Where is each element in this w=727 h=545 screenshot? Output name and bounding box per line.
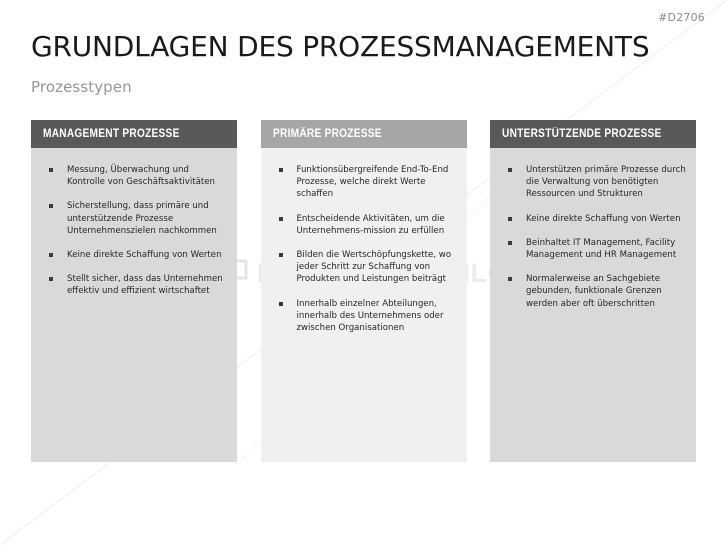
list-item-text: Bilden die Wertschöpfungskette, wo jeder…: [297, 250, 452, 284]
square-bullet-icon: [49, 168, 53, 172]
column-primaere-prozesse: Primäre Prozesse Funktionsübergreifende …: [261, 120, 467, 462]
square-bullet-icon: [508, 241, 512, 245]
column-unterstuetzende-prozesse: Unterstützende Prozesse Unterstützen pri…: [490, 120, 696, 462]
list-item: Keine direkte Schaffung von Werten: [41, 249, 227, 261]
column-header-label: Management Prozesse: [43, 128, 180, 140]
square-bullet-icon: [49, 277, 53, 281]
page-subtitle: Prozesstypen: [31, 78, 132, 96]
list-item: Normalerweise an Sachgebiete gebunden, f…: [500, 273, 686, 310]
column-management-prozesse: Management Prozesse Messung, Überwachung…: [31, 120, 237, 462]
list-item-text: Innerhalb einzelner Abteilungen, innerha…: [297, 299, 444, 333]
square-bullet-icon: [49, 253, 53, 257]
list-item-text: Messung, Überwachung und Kontrolle von G…: [67, 165, 215, 187]
list-item-text: Sicherstellung, dass primäre und unterst…: [67, 201, 217, 235]
list-item-text: Entscheidende Aktivitäten, um die Untern…: [297, 214, 445, 236]
column-header-label: Unterstützende Prozesse: [502, 128, 662, 140]
list-item-text: Unterstützen primäre Prozesse durch die …: [526, 165, 686, 199]
list-item: Bilden die Wertschöpfungskette, wo jeder…: [271, 249, 457, 286]
list-item: Unterstützen primäre Prozesse durch die …: [500, 164, 686, 201]
list-item-text: Funktionsübergreifende End-To-End Prozes…: [297, 165, 449, 199]
slide-code: #D2706: [658, 11, 705, 24]
column-body-primaere-prozesse: Funktionsübergreifende End-To-End Prozes…: [261, 148, 467, 462]
square-bullet-icon: [279, 168, 283, 172]
list-item: Stellt sicher, dass das Unternehmen effe…: [41, 273, 227, 297]
list-item-text: Stellt sicher, dass das Unternehmen effe…: [67, 274, 223, 296]
list-item: Messung, Überwachung und Kontrolle von G…: [41, 164, 227, 188]
bullet-list: Unterstützen primäre Prozesse durch die …: [500, 164, 686, 310]
column-body-unterstuetzende-prozesse: Unterstützen primäre Prozesse durch die …: [490, 148, 696, 462]
bullet-list: Funktionsübergreifende End-To-End Prozes…: [271, 164, 457, 334]
list-item: Entscheidende Aktivitäten, um die Untern…: [271, 213, 457, 237]
square-bullet-icon: [508, 217, 512, 221]
square-bullet-icon: [279, 253, 283, 257]
square-bullet-icon: [49, 204, 53, 208]
list-item: Beinhaltet IT Management, Facility Manag…: [500, 237, 686, 261]
list-item-text: Keine direkte Schaffung von Werten: [526, 214, 681, 224]
list-item: Keine direkte Schaffung von Werten: [500, 213, 686, 225]
list-item-text: Normalerweise an Sachgebiete gebunden, f…: [526, 274, 662, 308]
square-bullet-icon: [279, 217, 283, 221]
square-bullet-icon: [508, 168, 512, 172]
column-header-primaere-prozesse: Primäre Prozesse: [261, 120, 467, 148]
page-title: GRUNDLAGEN DES PROZESSMANAGEMENTS: [31, 32, 649, 63]
list-item-text: Beinhaltet IT Management, Facility Manag…: [526, 238, 676, 260]
square-bullet-icon: [508, 277, 512, 281]
column-header-management-prozesse: Management Prozesse: [31, 120, 237, 148]
column-header-label: Primäre Prozesse: [273, 128, 382, 140]
square-bullet-icon: [279, 302, 283, 306]
list-item: Innerhalb einzelner Abteilungen, innerha…: [271, 298, 457, 335]
list-item: Sicherstellung, dass primäre und unterst…: [41, 200, 227, 237]
bullet-list: Messung, Überwachung und Kontrolle von G…: [41, 164, 227, 298]
process-type-columns: Management Prozesse Messung, Überwachung…: [31, 120, 696, 462]
column-header-unterstuetzende-prozesse: Unterstützende Prozesse: [490, 120, 696, 148]
column-body-management-prozesse: Messung, Überwachung und Kontrolle von G…: [31, 148, 237, 462]
slide-canvas: PRESENTATIONLOAD #D2706 GRUNDLAGEN DES P…: [0, 0, 727, 545]
list-item: Funktionsübergreifende End-To-End Prozes…: [271, 164, 457, 201]
list-item-text: Keine direkte Schaffung von Werten: [67, 250, 222, 260]
